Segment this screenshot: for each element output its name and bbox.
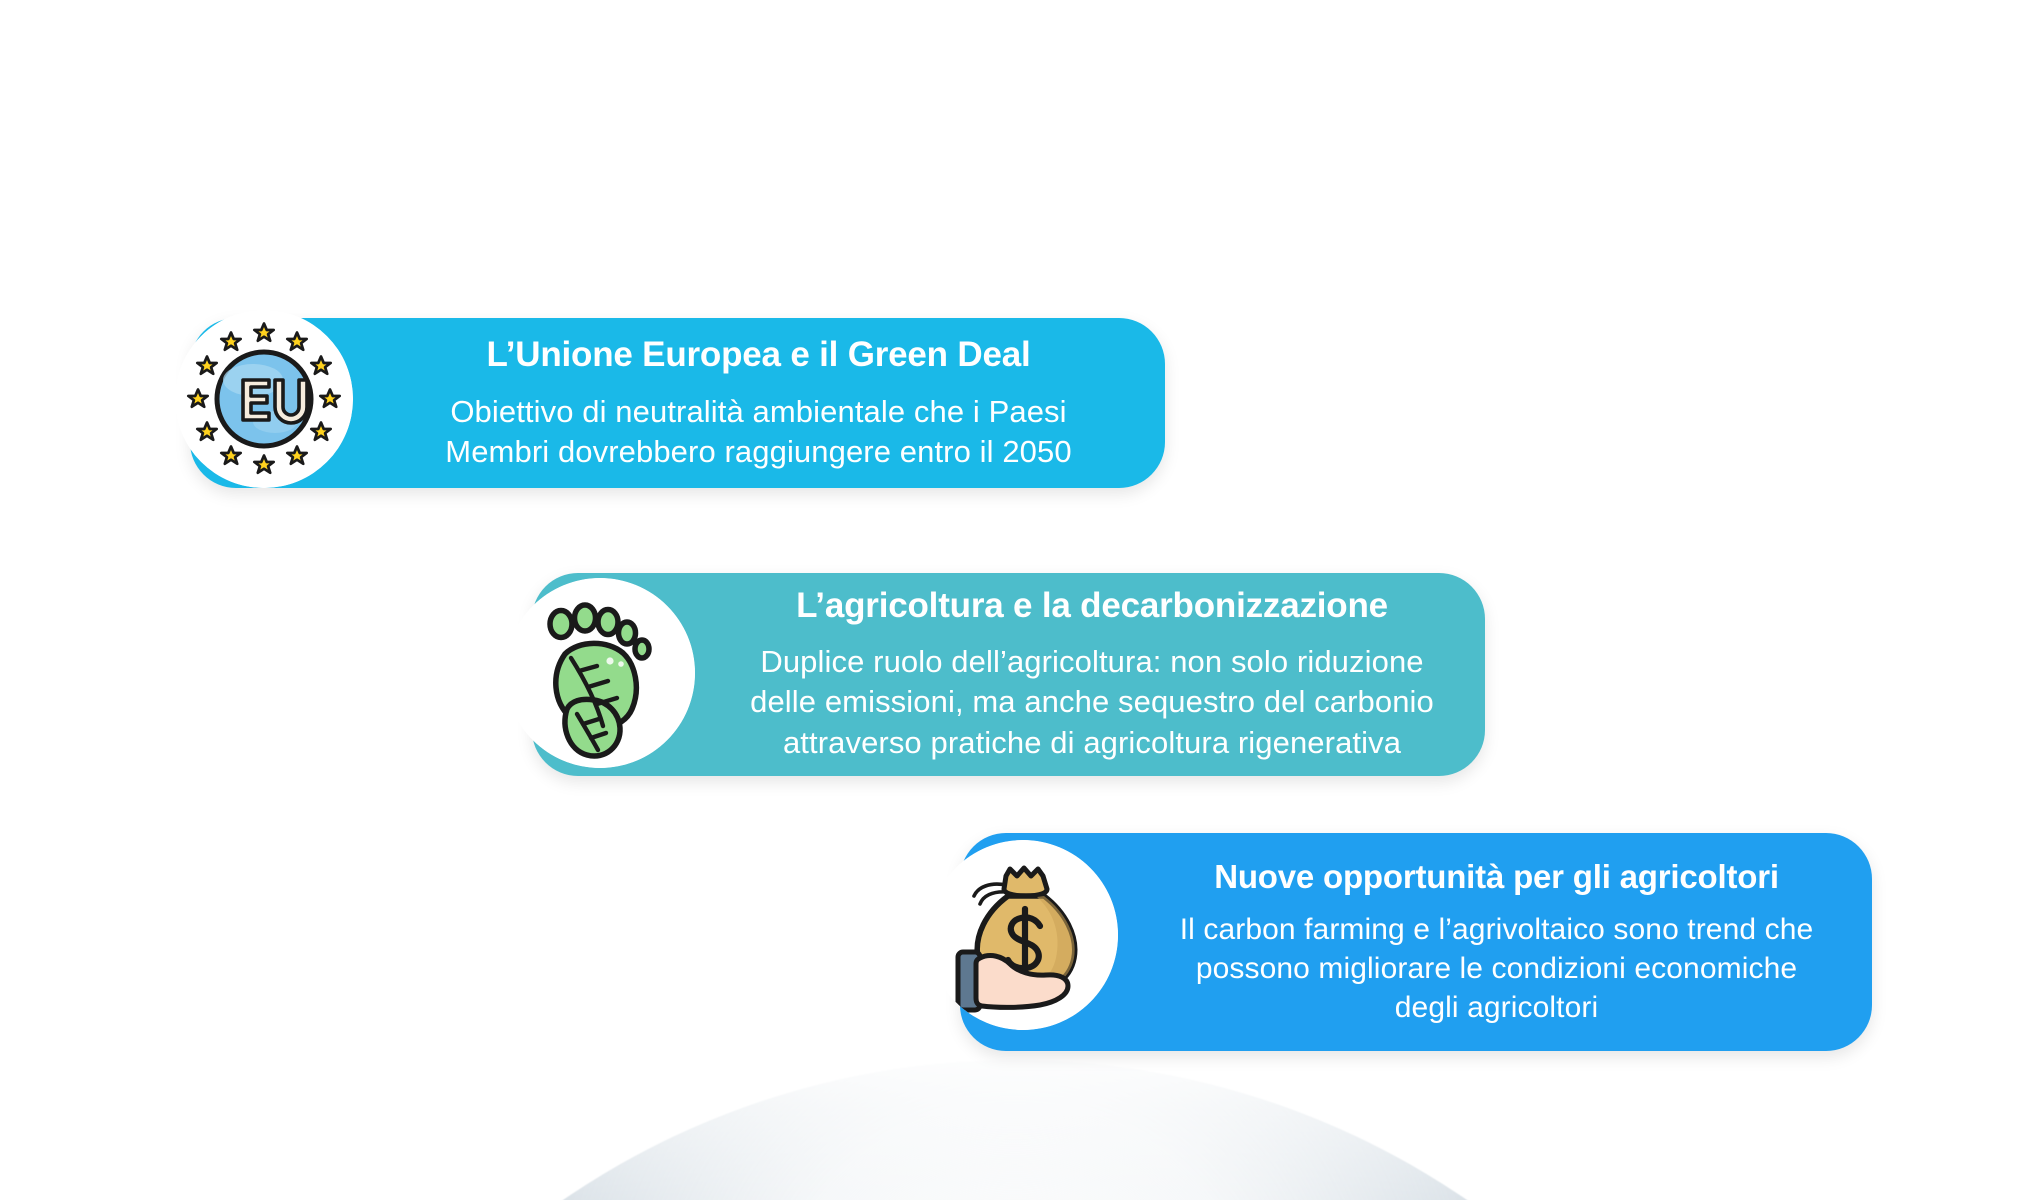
- eu-flag-icon-badge: [175, 310, 353, 488]
- eu-flag-icon: [175, 310, 353, 488]
- card-opp-body: Il carbon farming e l’agrivoltaico sono …: [1180, 910, 1814, 1027]
- card-eu-body: Obiettivo di neutralità ambientale che i…: [445, 392, 1071, 471]
- card-agri-body-line-2: delle emissioni, ma anche sequestro del …: [750, 682, 1434, 722]
- card-eu-text-block: L’Unione Europea e il Green Deal Obietti…: [380, 335, 1137, 471]
- card-agri-body: Duplice ruolo dell’agricoltura: non solo…: [750, 642, 1434, 763]
- card-opp-title: Nuove opportunità per gli agricoltori: [1214, 858, 1779, 896]
- card-opp-body-line-1: Il carbon farming e l’agrivoltaico sono …: [1180, 910, 1814, 949]
- card-eu-title: L’Unione Europea e il Green Deal: [486, 335, 1030, 375]
- background-sphere-decoration: [215, 1060, 1815, 1200]
- background-sphere-fade: [150, 1040, 1890, 1200]
- card-opp-text-block: Nuove opportunità per gli agricoltori Il…: [1145, 858, 1848, 1027]
- card-agri-title: L’agricoltura e la decarbonizzazione: [796, 586, 1388, 626]
- green-carbon-footprint-icon-badge: [505, 578, 695, 768]
- card-eu-body-line-2: Membri dovrebbero raggiungere entro il 2…: [445, 432, 1071, 472]
- card-opp-body-line-2: possono migliorare le condizioni economi…: [1180, 949, 1814, 988]
- hand-holding-money-bag-icon: [928, 840, 1118, 1030]
- hand-holding-money-bag-icon-badge: [928, 840, 1118, 1030]
- green-carbon-footprint-icon: [505, 578, 695, 768]
- card-agri-text-block: L’agricoltura e la decarbonizzazione Dup…: [727, 586, 1457, 763]
- card-agri-body-line-1: Duplice ruolo dell’agricoltura: non solo…: [750, 642, 1434, 682]
- card-agri-body-line-3: attraverso pratiche di agricoltura rigen…: [750, 723, 1434, 763]
- infographic-canvas: L’Unione Europea e il Green Deal Obietti…: [0, 0, 2040, 1200]
- card-eu-body-line-1: Obiettivo di neutralità ambientale che i…: [445, 392, 1071, 432]
- card-opp-body-line-3: degli agricoltori: [1180, 988, 1814, 1027]
